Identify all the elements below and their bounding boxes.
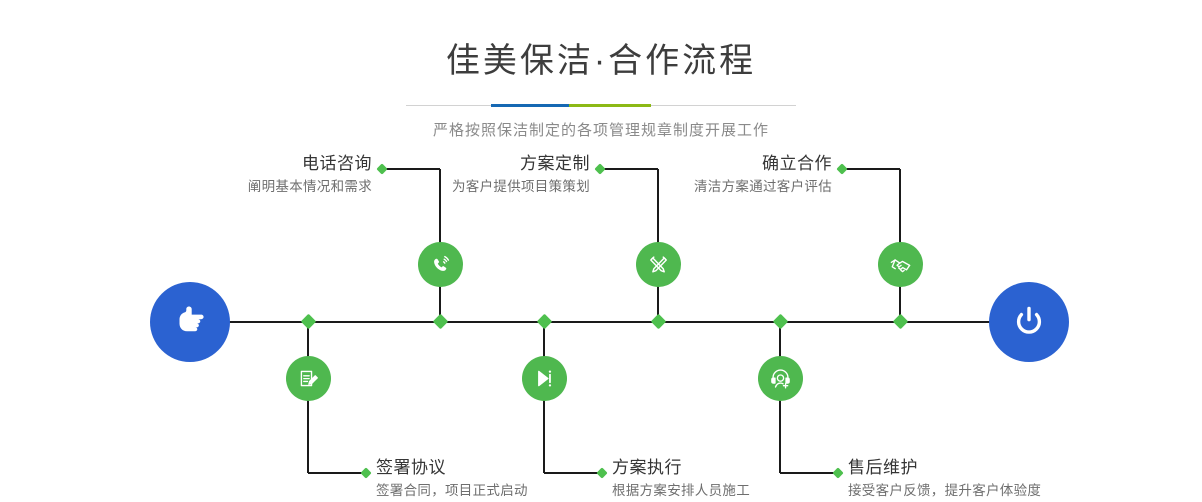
pencil-design-icon [645,251,672,278]
divider-green-segment [569,104,651,107]
support-headset-icon [767,365,794,392]
step-caption: 方案执行根据方案安排人员施工 [612,458,750,500]
step-icon-bubble[interactable] [878,242,923,287]
step-title: 签署协议 [376,458,528,478]
step-connector-horizontal [308,472,366,474]
timeline-axis [160,321,1044,323]
step-title: 确立合作 [694,154,832,174]
axis-marker-diamond [300,313,316,329]
step-caption: 确立合作清洁方案通过客户评估 [694,154,832,196]
phone-call-icon [427,251,454,278]
step-icon-bubble[interactable] [636,242,681,287]
step-description: 清洁方案通过客户评估 [694,177,832,196]
step-description: 接受客户反馈，提升客户体验度 [848,481,1041,500]
divider-blue-segment [491,104,569,107]
step-caption: 电话咨询阐明基本情况和需求 [248,154,372,196]
header: 佳美保洁·合作流程 严格按照保洁制定的各项管理规章制度开展工作 [0,0,1202,140]
step-title: 方案执行 [612,458,750,478]
step-description: 签署合同，项目正式启动 [376,481,528,500]
step-connector-horizontal [842,168,900,170]
step-connector-horizontal [780,472,838,474]
label-marker-diamond [832,467,843,478]
step-description: 为客户提供项目策策划 [452,177,590,196]
step-title: 售后维护 [848,458,1041,478]
label-marker-diamond [596,467,607,478]
step-description: 根据方案安排人员施工 [612,481,750,500]
step-title: 方案定制 [452,154,590,174]
label-marker-diamond [836,163,847,174]
step-icon-bubble[interactable] [286,356,331,401]
process-timeline: 电话咨询阐明基本情况和需求签署协议签署合同，项目正式启动方案定制为客户提供项目策… [0,150,1202,502]
axis-marker-diamond [432,313,448,329]
label-marker-diamond [360,467,371,478]
axis-marker-diamond [892,313,908,329]
document-edit-icon [295,365,322,392]
step-connector-horizontal [600,168,658,170]
handshake-icon [887,251,914,278]
step-description: 阐明基本情况和需求 [248,177,372,196]
power-icon [1007,300,1051,344]
step-icon-bubble[interactable] [522,356,567,401]
timeline-end-node[interactable] [989,282,1069,362]
step-connector-horizontal [544,472,602,474]
step-icon-bubble[interactable] [758,356,803,401]
label-marker-diamond [594,163,605,174]
page-title: 佳美保洁·合作流程 [0,44,1202,78]
step-caption: 签署协议签署合同，项目正式启动 [376,458,528,500]
step-caption: 方案定制为客户提供项目策策划 [452,154,590,196]
axis-marker-diamond [772,313,788,329]
pointing-hand-icon [168,300,212,344]
step-icon-bubble[interactable] [418,242,463,287]
step-connector-horizontal [382,168,440,170]
page-subtitle: 严格按照保洁制定的各项管理规章制度开展工作 [0,119,1202,140]
step-caption: 售后维护接受客户反馈，提升客户体验度 [848,458,1041,500]
timeline-start-node[interactable] [150,282,230,362]
axis-marker-diamond [536,313,552,329]
step-title: 电话咨询 [248,154,372,174]
label-marker-diamond [376,163,387,174]
axis-marker-diamond [650,313,666,329]
play-execute-icon [531,365,558,392]
title-divider [406,104,796,107]
infographic-root: 佳美保洁·合作流程 严格按照保洁制定的各项管理规章制度开展工作 [0,0,1202,502]
